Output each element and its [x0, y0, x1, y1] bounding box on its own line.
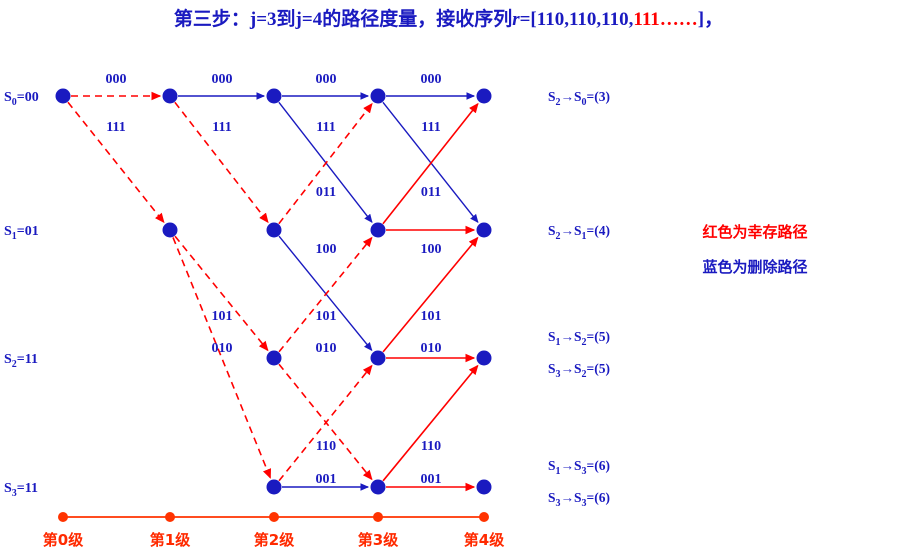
stage-label-4: 第4级 [464, 531, 505, 549]
edge-label: 110 [316, 439, 336, 454]
trellis-edges [68, 96, 478, 487]
edge-label: 111 [316, 120, 335, 135]
trellis-edge [279, 366, 372, 481]
stage-axis: 第0级第1级第2级第3级第4级 [43, 512, 505, 549]
path-metric-0: S2→S0=(3) [548, 89, 610, 108]
trellis-node [477, 351, 492, 366]
edge-label: 010 [212, 341, 233, 356]
trellis-diagram: 1110001011110000101001011101110000110100… [0, 0, 897, 555]
state-label-s0: S0=00 [4, 90, 39, 108]
stage-label-3: 第3级 [358, 531, 399, 549]
edge-label: 110 [421, 439, 441, 454]
trellis-node [163, 89, 178, 104]
trellis-nodes [56, 89, 492, 495]
edge-label: 111 [212, 120, 231, 135]
trellis-node [163, 223, 178, 238]
edge-label: 011 [316, 185, 336, 200]
edge-label: 111 [421, 120, 440, 135]
edge-label: 000 [106, 72, 127, 87]
stage-axis-dot [165, 512, 175, 522]
path-metric-5: S3→S3=(6) [548, 490, 610, 509]
state-label-s3: S3=11 [4, 481, 38, 499]
legend-item-1: 蓝色为删除路径 [702, 258, 807, 276]
trellis-node [371, 480, 386, 495]
trellis-node [267, 480, 282, 495]
stage-label-2: 第2级 [254, 531, 295, 549]
edge-label: 000 [316, 72, 337, 87]
edge-label: 001 [421, 472, 442, 487]
edge-label: 011 [421, 185, 441, 200]
stage-axis-dot [479, 512, 489, 522]
trellis-node [371, 351, 386, 366]
edge-label: 000 [421, 72, 442, 87]
stage-axis-dot [58, 512, 68, 522]
trellis-node [371, 223, 386, 238]
edge-label: 101 [421, 309, 442, 324]
trellis-node [56, 89, 71, 104]
trellis-edge [279, 364, 372, 479]
trellis-node [267, 223, 282, 238]
legend-item-0: 红色为幸存路径 [702, 223, 807, 241]
trellis-node [267, 351, 282, 366]
edge-label: 010 [316, 341, 337, 356]
stage-axis-dot [269, 512, 279, 522]
state-label-s2: S2=11 [4, 352, 38, 370]
path-metric-4: S1→S3=(6) [548, 458, 610, 477]
stage-label-0: 第0级 [43, 531, 84, 549]
trellis-edge [175, 236, 268, 350]
trellis-edge-labels: 1110001011110000101001011101110000110100… [106, 72, 442, 487]
stage-label-1: 第1级 [150, 531, 191, 549]
edge-label: 101 [212, 309, 233, 324]
trellis-node [477, 480, 492, 495]
edge-label: 010 [421, 341, 442, 356]
trellis-edge [173, 237, 270, 477]
trellis-node [371, 89, 386, 104]
edge-label: 100 [421, 242, 442, 257]
trellis-node [477, 89, 492, 104]
edge-label: 111 [106, 120, 125, 135]
trellis-node [477, 223, 492, 238]
trellis-edge [383, 366, 478, 481]
trellis-node [267, 89, 282, 104]
state-row-labels: S0=00S1=01S2=11S3=11 [4, 90, 39, 499]
stage-axis-dot [373, 512, 383, 522]
legend: 红色为幸存路径蓝色为删除路径 [702, 223, 807, 276]
path-metric-labels: S2→S0=(3)S2→S1=(4)S1→S2=(5)S3→S2=(5)S1→S… [548, 89, 610, 509]
state-label-s1: S1=01 [4, 224, 39, 242]
edge-label: 001 [316, 472, 337, 487]
edge-label: 101 [316, 309, 337, 324]
path-metric-1: S2→S1=(4) [548, 223, 610, 242]
edge-label: 000 [212, 72, 233, 87]
path-metric-2: S1→S2=(5) [548, 329, 610, 348]
edge-label: 100 [316, 242, 337, 257]
path-metric-3: S3→S2=(5) [548, 361, 610, 380]
